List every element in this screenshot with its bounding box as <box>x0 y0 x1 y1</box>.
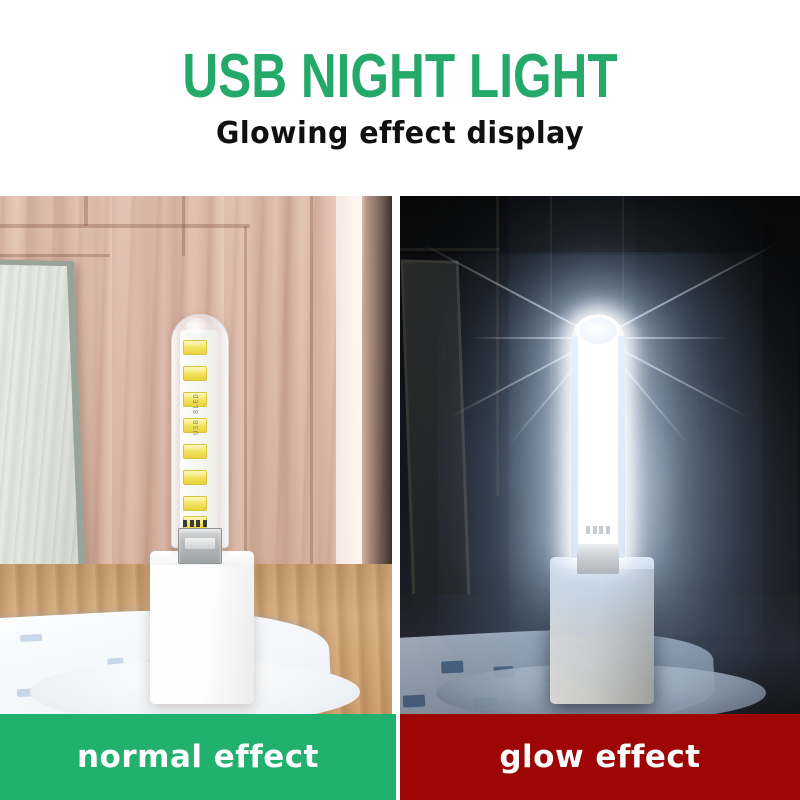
cap-glint <box>185 318 211 340</box>
wall-seam <box>496 196 499 496</box>
pcb-label: USB 8LED <box>192 384 200 444</box>
panel-divider <box>392 196 400 800</box>
mat-print-mark <box>441 660 464 673</box>
wall-seam <box>0 254 110 257</box>
usb-connector <box>178 528 222 564</box>
caption-glow-effect: glow effect <box>400 714 800 800</box>
led-chip <box>183 470 207 485</box>
page-title: USB NIGHT LIGHT <box>80 45 720 109</box>
photo-glow-effect <box>400 196 800 714</box>
wall-seam <box>550 196 552 456</box>
wall-seam <box>400 248 500 251</box>
led-chip <box>183 340 207 355</box>
header: USB NIGHT LIGHT Glowing effect display <box>0 0 800 196</box>
wall-seam <box>0 224 250 228</box>
led-chip <box>183 444 207 459</box>
smd-component-row <box>586 526 610 534</box>
smd-component-row <box>183 520 207 527</box>
power-bank <box>150 559 254 704</box>
glowing-body <box>570 314 626 560</box>
photo-normal-effect: USB 8LED <box>0 196 392 714</box>
wall-seam <box>84 196 88 226</box>
wall-seam <box>182 196 185 256</box>
caption-row: normal effect glow effect <box>0 714 800 800</box>
glow-edge <box>618 336 625 558</box>
cap-glint <box>579 318 617 344</box>
mat-print-mark <box>20 634 42 642</box>
caption-normal-effect: normal effect <box>0 714 396 800</box>
mat-print-mark <box>403 695 426 708</box>
photo-row: USB 8LED <box>0 196 800 714</box>
glow-edge <box>571 336 578 558</box>
usb-led-stick-unlit: USB 8LED <box>171 314 227 564</box>
led-chip <box>183 496 207 511</box>
caption-normal-label: normal effect <box>77 739 319 775</box>
usb-led-stick-glowing <box>570 314 626 574</box>
page-subtitle: Glowing effect display <box>20 117 780 151</box>
usb-connector <box>577 544 619 574</box>
led-chip <box>183 366 207 381</box>
product-banner: USB NIGHT LIGHT Glowing effect display <box>0 0 800 800</box>
power-bank-lit <box>550 564 654 704</box>
caption-glow-label: glow effect <box>499 739 700 775</box>
